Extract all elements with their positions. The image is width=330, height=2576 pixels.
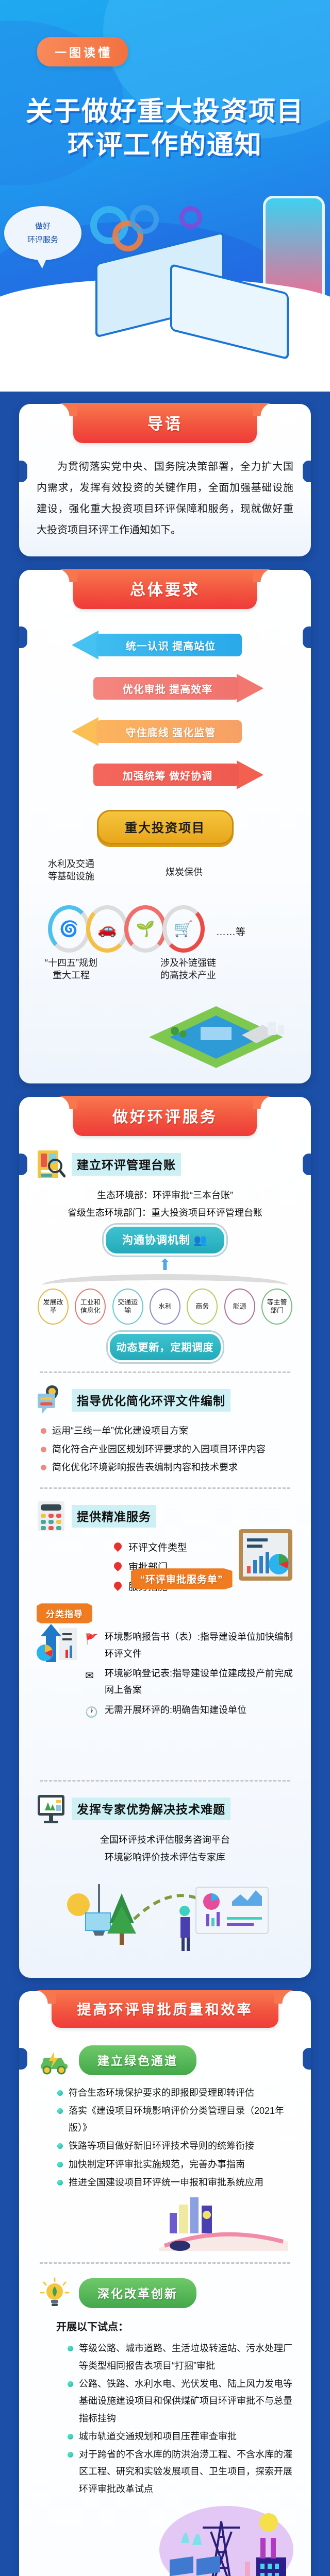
reform-lead-text: 开展以下试点： [56,2317,293,2337]
service-block-1-line-2: 省级生态环境部门：重大投资项目环评管理台账 [37,1204,293,1222]
arrow-requirement-3: 守住底线 强化监管 [72,717,242,746]
mechanism-pill: 沟通协调机制 👥 [106,1227,224,1253]
department-list: 发展改革 工业和信息化 交通运输 水利 商务 能源 等主管部门 [38,1289,292,1325]
quality-block-2-bullets: 等级公路、城市道路、生活垃圾转运站、污水处理厂等类型相同报告表项目“打捆”审批 … [67,2340,293,2498]
project-etc-label: ……等 [216,924,245,953]
classified-item-text: 环境影响报告书（表）:指导建设单位加快编制环评文件 [105,1632,293,1658]
section-banner-overall: 总体要求 [73,569,257,609]
solar-analytics-illustration [57,1870,273,1962]
divider [40,1371,290,1373]
service-block-2-title: 指导优化简化环评文件编制 [72,1389,230,1412]
classified-item-text: 无需开展环评的:明确告知建设单位 [105,1705,246,1715]
bullet-item: 推进全国建设项目环评统一申报和审批系统应用 [56,2174,293,2191]
arrow-label-3: 守住底线 强化监管 [96,724,242,739]
service-block-1-line-1: 生态环境部：环评审批“三本台账” [37,1187,293,1204]
intro-body: 为贯彻落实党中央、国务院决策部署，全力扩大国内需求，发挥有效投资的关键作用，全面… [19,444,311,541]
infographic-page: 一图读懂 关于做好重大投资项目 环评工作的通知 做好 环评服务 导语 为贯彻落实… [0,0,330,2576]
project-label-3: “十四五”规划 重大工程 [45,957,97,982]
arrow-requirement-1: 统一认识 提高站位 [72,631,242,659]
section-banner-intro: 导语 [73,403,257,443]
quality-block-1-pill: 建立绿色通道 [79,2045,196,2075]
project-icon-row: 🌀 🚗 🌱 🛒 ……等 [54,905,293,953]
speech-line-2: 环评服务 [27,233,58,247]
bullet-item: 公路、铁路、水利水电、光伏发电、陆上风力发电等基础设施建设项目和保供煤矿项目环评… [67,2376,293,2427]
quality-body: 建立绿色通道 符合生态环境保护要求的即报即受理即转评估 落实《建设项目环境影响评… [19,2029,311,2576]
divider [40,2262,290,2264]
section-card-service: 做好环评服务 建立环评管理台账 生态环境部：环评审批“三 [19,1097,311,1978]
up-arrow-icon: ⬆ [37,1258,293,1273]
department-item: 水利 [150,1289,180,1325]
department-item: 能源 [224,1289,255,1325]
department-item: 商务 [187,1289,218,1325]
bullet-item: 符合生态环境保护要求的即报即受理即转评估 [56,2084,293,2102]
clipboard-chart-icon [235,1526,296,1583]
bullet-item: 落实《建设项目环境影响评价分类管理目录（2021年版）》 [56,2103,293,2137]
coal-cart-glyph: 🛒 [174,920,193,938]
department-item: 交通运输 [112,1289,143,1325]
department-item: 发展改革 [38,1289,69,1325]
arrow-head-icon [72,717,98,746]
service-block-3-title: 提供精准服务 [72,1505,156,1528]
wind-turbine-icon: 🌀 [48,905,90,953]
service-block-1-title: 建立环评管理台账 [72,1153,181,1176]
page-title: 关于做好重大投资项目 环评工作的通知 [0,95,330,162]
project-label-1: 水利及交通 等基础设施 [48,858,94,883]
dam-landscape-illustration [139,991,293,1068]
coal-cart-icon: 🛒 [162,905,205,953]
quality-block-2-pill: 深化改革创新 [79,2278,196,2308]
ledger-search-icon [37,1148,65,1180]
hero-banner: 一图读懂 关于做好重大投资项目 环评工作的通知 做好 环评服务 [0,0,330,392]
project-label-4: 涉及补链强链 的高技术产业 [160,957,216,982]
bullet-item: 铁路等项目做好新旧环评技术导则的统筹衔接 [56,2138,293,2155]
page-title-line1: 关于做好重大投资项目 [26,96,304,127]
service-block-2-head: 指导优化简化环评文件编制 [37,1384,293,1416]
platform-line-2: 环境影响评价技术评估专家库 [37,1849,293,1866]
quality-block-2-head: 深化改革创新 [39,2277,293,2309]
page-title-line2: 环评工作的通知 [0,129,330,162]
classified-item: 🕐 无需开展环评的:明确告知建设单位 [84,1702,293,1718]
classified-item: 🚩 环境影响报告书（表）:指导建设单位加快编制环评文件 [84,1629,293,1662]
calculator-icon [37,1500,65,1532]
arrow-row-2: 优化审批 提高效率 [37,674,293,706]
lightbulb-icon [39,2277,71,2309]
arrow-row-4: 加强统筹 做好协调 [37,760,293,792]
divider [40,1780,290,1782]
coordination-mechanism: 沟通协调机制 👥 ⬆ 发展改革 工业和信息化 交通运输 水利 商务 能源 等主管… [37,1227,293,1360]
arrow-label-2: 优化审批 提高效率 [93,681,239,696]
service-block-4-head: 发挥专家优势解决技术难题 [37,1793,293,1825]
sprout-hand-icon: 🌱 [124,905,167,953]
service-body: 建立环评管理台账 生态环境部：环评审批“三本台账” 省级生态环境部门：重大投资项… [19,1137,311,1962]
gear-icon [179,206,202,229]
bullet-item: 运用“三线一单”优化建设项目方案 [40,1422,293,1439]
arrow-row-3: 守住底线 强化监管 [37,717,293,749]
green-car-icon [39,2044,71,2076]
major-project-pill: 重大投资项目 [97,810,234,844]
bullet-item: 加快制定环评审批实施规范，完善办事指南 [56,2156,293,2173]
bullet-item: 城市轨道交通规划和项目压茬审查审批 [67,2428,293,2445]
arrow-label-1: 统一认识 提高站位 [96,638,242,653]
high-speed-train-illustration [159,2194,293,2251]
people-icon: 👥 [194,1234,208,1246]
department-item: 工业和信息化 [75,1289,106,1325]
department-item: 等主管部门 [261,1289,292,1325]
section-banner-quality: 提高环评审批质量和效率 [52,1990,278,2028]
growth-chart-icon [37,1621,81,1667]
section-card-overall: 总体要求 统一认识 提高站位 优化审批 提高效率 [19,570,311,1083]
mechanism-pill-label: 沟通协调机制 [122,1234,190,1246]
monitor-tree-icon [37,1793,65,1825]
flag-icon: 🚩 [85,1630,98,1649]
bullet-item: 等级公路、城市道路、生活垃圾转运站、污水处理厂等类型相同报告表项目“打捆”审批 [67,2340,293,2375]
classified-guidance-list: 🚩 环境影响报告书（表）:指导建设单位加快编制环评文件 ✉ 环境影响登记表:指导… [84,1629,293,1718]
read-badge: 一图读懂 [37,37,128,66]
bullet-item: 简化优化环境影响报告表编制内容和技术要求 [40,1459,293,1476]
divider [40,1487,290,1489]
vehicle-icon: 🚗 [86,905,128,953]
speech-line-1: 做好 [35,220,51,233]
clock-icon: 🕐 [85,1703,98,1722]
classified-item: ✉ 环境影响登记表:指导建设单位建成投产前完成网上备案 [84,1665,293,1699]
quality-block-1-head: 建立绿色通道 [39,2044,293,2076]
arrow-requirement-2: 优化审批 提高效率 [93,674,263,703]
arrow-head-icon [72,631,98,659]
arrow-requirement-4: 加强统筹 做好协调 [93,760,263,789]
arrow-label-4: 加强统筹 做好协调 [93,768,239,783]
arrow-head-icon [237,760,263,789]
location-note-icon [37,1384,65,1416]
platform-line-1: 全国环评技术评估服务咨询平台 [37,1831,293,1849]
arrow-row-1: 统一认识 提高站位 [37,631,293,663]
section-card-intro: 导语 为贯彻落实党中央、国务院决策部署，全力扩大国内需求，发挥有效投资的关键作用… [19,404,311,556]
gear-icon [130,205,159,234]
classified-item-text: 环境影响登记表:指导建设单位建成投产前完成网上备案 [105,1668,293,1695]
intro-paragraph: 为贯彻落实党中央、国务院决策部署，全力扩大国内需求，发挥有效投资的关键作用，全面… [37,456,293,541]
overall-body: 统一认识 提高站位 优化审批 提高效率 守住底线 强化监管 [19,610,311,1068]
update-pill: 动态更新，定期调度 [110,1334,221,1360]
speech-bubble: 做好 环评服务 [4,206,81,260]
arrow-head-icon [237,674,263,703]
bullet-item: 简化符合产业园区规划环评要求的入园项目环评内容 [40,1441,293,1458]
service-sheet-ribbon: “环评审批服务单” [131,1568,233,1589]
quality-block-1-bullets: 符合生态环境保护要求的即报即受理即转评估 落实《建设项目环境影响评价分类管理目录… [56,2084,293,2192]
sprout-glyph: 🌱 [136,920,155,938]
section-card-quality: 提高环评审批质量和效率 建立绿色通道 符合生态环境保护要求的即报即受理即转评估 [19,1991,311,2576]
vehicle-glyph: 🚗 [97,920,117,938]
service-block-2-bullets: 运用“三线一单”优化建设项目方案 简化符合产业园区规划环评要求的入园项目环评内容… [40,1422,293,1476]
wind-turbine-glyph: 🌀 [59,920,78,938]
section-banner-service: 做好环评服务 [73,1096,257,1136]
power-grid-illustration [149,2501,293,2576]
service-block-4-title: 发挥专家优势解决技术难题 [72,1798,230,1820]
service-block-1-head: 建立环评管理台账 [37,1148,293,1180]
project-label-2: 煤炭保供 [166,866,203,878]
bullet-item: 对于跨省的不含水库的防洪治涝工程、不含水库的灌区工程、研究和实验发展项目、卫生项… [67,2446,293,2498]
envelope-icon: ✉ [85,1667,94,1685]
connector-rail [42,1274,288,1285]
